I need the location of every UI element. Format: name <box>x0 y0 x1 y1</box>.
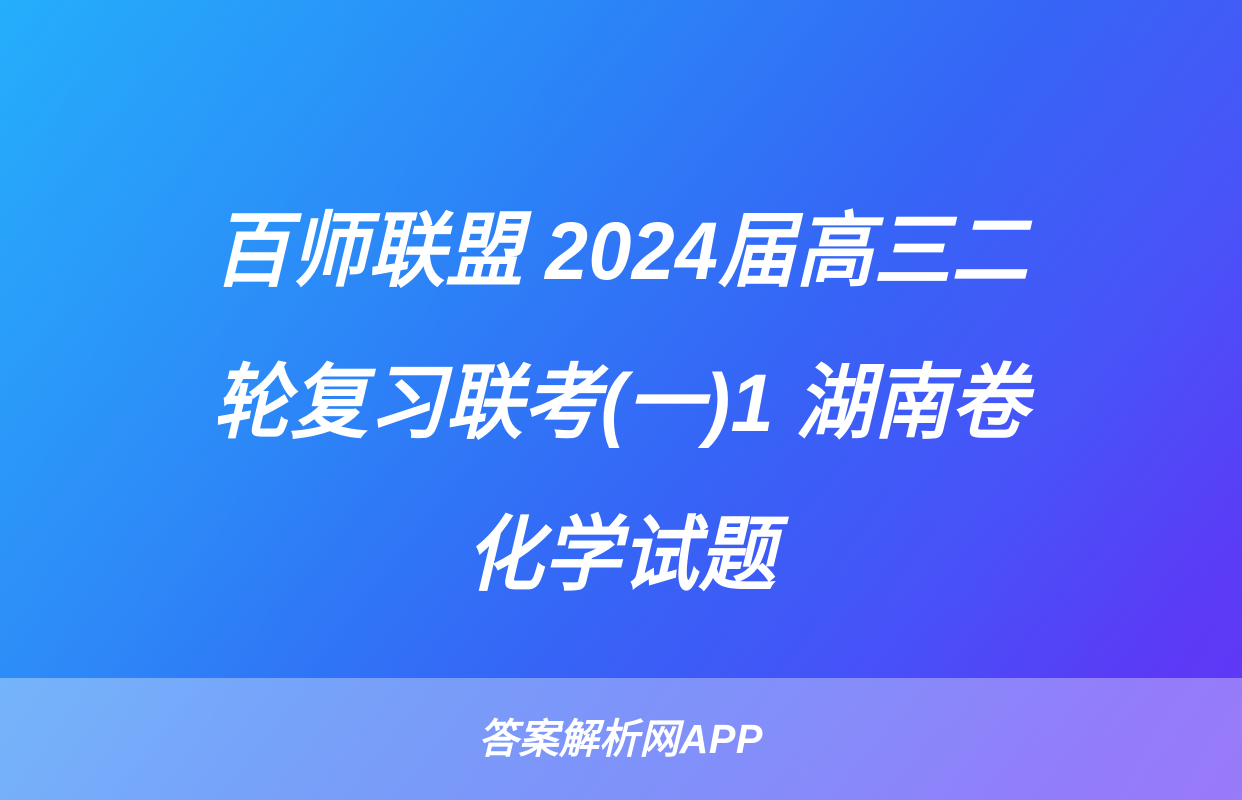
page-title-line-1: 百师联盟 2024届高三二 <box>213 176 1029 328</box>
page-title-line-2: 轮复习联考(一)1 湖南卷 <box>213 328 1028 480</box>
exam-cover-card: 百师联盟 2024届高三二 轮复习联考(一)1 湖南卷 化学试题 答案解析网AP… <box>0 0 1242 800</box>
exam-title-block: 百师联盟 2024届高三二 轮复习联考(一)1 湖南卷 化学试题 <box>0 176 1242 606</box>
page-title-line-3: 化学试题 <box>466 480 776 632</box>
footer-watermark-band: 答案解析网APP <box>0 678 1242 800</box>
app-watermark-label: 答案解析网APP <box>479 719 764 760</box>
